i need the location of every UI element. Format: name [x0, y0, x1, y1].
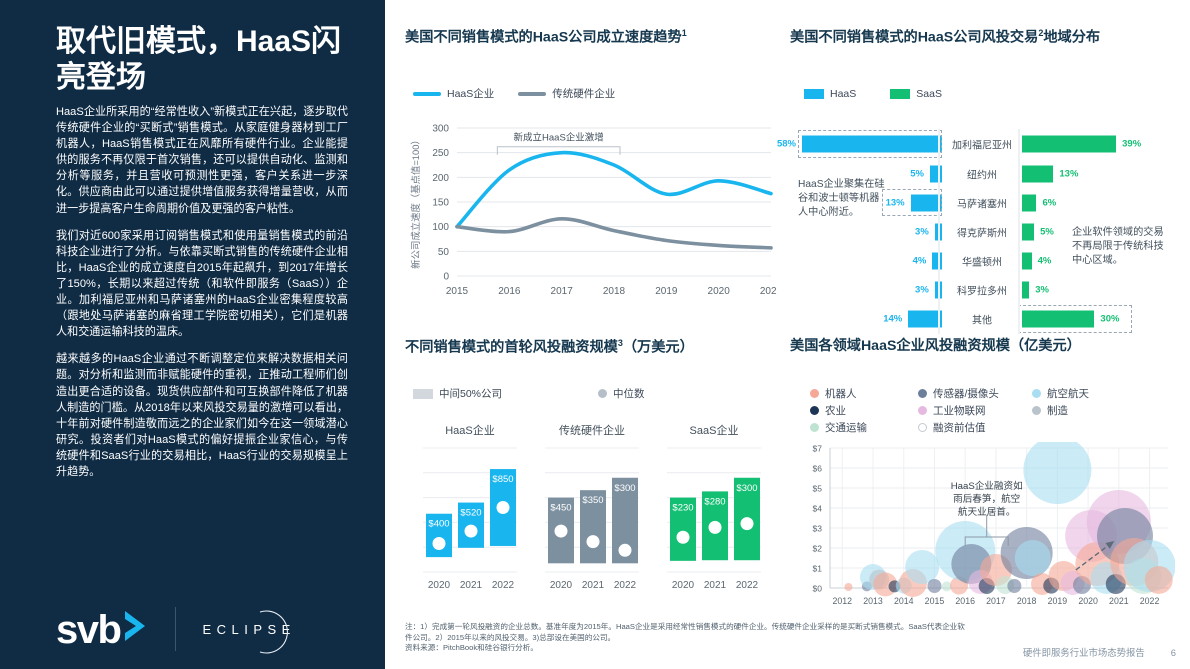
- svb-wordmark: svb: [56, 610, 120, 650]
- bar-value-haas: 3%: [915, 284, 929, 295]
- x-tick-label: 2012: [833, 596, 853, 606]
- legend-label: 航空航天: [1047, 386, 1089, 401]
- y-tick-label: $4: [813, 504, 823, 514]
- x-tick-label: 2018: [1017, 596, 1037, 606]
- chart-geo-distribution: 美国不同销售模式的HaaS公司风投交易2地域分布 HaaS SaaS 58%加利…: [790, 28, 1175, 318]
- slide-page: 取代旧模式，HaaS闪亮登场 HaaS企业所采用的“经常性收入”新模式正在兴起，…: [0, 0, 1190, 669]
- bar-value-saas: 4%: [1038, 255, 1052, 266]
- legend-label: 工业物联网: [933, 403, 986, 418]
- bubble-chart-canvas: $0$1$2$3$4$5$6$7201220132014201520162017…: [790, 442, 1175, 618]
- x-tick-label: 2013: [863, 596, 883, 606]
- legend-item-iqr: 中间50%公司: [413, 386, 598, 401]
- chart-sector-vc-bubbles: 美国各领域HaaS企业风投融资规模（亿美元） 机器人传感器/摄像头航空航天农业工…: [790, 338, 1175, 618]
- legend-dot-icon: [918, 389, 927, 398]
- bar-haas: [802, 136, 942, 153]
- note-saas-spread: 企业软件领域的交易不再局限于传统科技中心区域。: [1072, 226, 1172, 268]
- legend-label: 机器人: [825, 386, 857, 401]
- axis-separator: [1018, 129, 1020, 334]
- bar-saas: [1022, 194, 1036, 211]
- box-value-label: $300: [736, 483, 757, 494]
- box-year-label: 2022: [614, 580, 637, 591]
- bar-value-saas: 6%: [1042, 197, 1056, 208]
- legend-swatch-icon: [890, 89, 910, 99]
- box-group-title: SaaS企业: [690, 423, 739, 437]
- chart-annotation: 新成立HaaS企业激增: [514, 132, 604, 144]
- bubble: [1015, 540, 1051, 576]
- legend-item: 机器人: [810, 386, 857, 401]
- legend-item-median: 中位数: [598, 386, 645, 401]
- charts-area: 美国不同销售模式的HaaS公司成立速度趋势1 HaaS企业 传统硬件企业 050…: [385, 0, 1190, 669]
- legend-item-haas: HaaS: [804, 88, 856, 100]
- x-tick-label: 2019: [1048, 596, 1068, 606]
- intro-body-text: HaaS企业所采用的“经常性收入”新模式正在兴起，逐步取代传统硬件企业的“买断式…: [56, 104, 348, 480]
- chart-title-text: 美国不同销售模式的HaaS公司成立速度趋势: [405, 30, 682, 46]
- bubble: [1007, 579, 1021, 593]
- legend-dot-icon: [918, 406, 927, 415]
- bar-value-saas: 3%: [1035, 284, 1049, 295]
- bar-saas: [1022, 252, 1032, 269]
- bubble: [1023, 442, 1091, 504]
- footnotes: 注：1）完成第一轮风投融资的企业总数。基准年度为2015年。HaaS企业是采用经…: [405, 622, 965, 654]
- y-tick-label: $1: [813, 564, 823, 574]
- x-tick-label: 2016: [955, 596, 975, 606]
- bar-value-saas: 13%: [1059, 168, 1078, 179]
- note-haas-clusters: HaaS企业聚集在硅谷和波士顿等机器人中心附近。: [798, 178, 886, 220]
- box-median-dot: [555, 525, 568, 538]
- legend-item-legacy: 传统硬件企业: [518, 86, 615, 101]
- legend-label: 交通运输: [825, 420, 867, 435]
- eclipse-logo: ECLIPSE: [202, 622, 295, 637]
- bar-saas: [1022, 136, 1116, 153]
- y-tick-label: $2: [813, 544, 823, 554]
- box-group-title: 传统硬件企业: [559, 423, 625, 437]
- x-tick-label: 2015: [925, 596, 945, 606]
- box-median-dot: [465, 525, 478, 538]
- line-chart-canvas: 050100150200250300新公司成立速度（基点值=100）201520…: [405, 108, 777, 318]
- legend-dot-icon: [598, 389, 607, 398]
- bar-value-saas: 5%: [1040, 226, 1054, 237]
- line-series: [457, 219, 771, 248]
- y-tick-label: $3: [813, 524, 823, 534]
- x-tick-label: 2018: [603, 286, 626, 297]
- box-value-label: $230: [672, 503, 693, 514]
- y-tick-label: 0: [443, 272, 449, 283]
- legend-label: 中间50%公司: [439, 386, 502, 401]
- box-value-label: $300: [614, 483, 635, 494]
- left-intro-panel: 取代旧模式，HaaS闪亮登场 HaaS企业所采用的“经常性收入”新模式正在兴起，…: [0, 0, 385, 669]
- box-value-label: $850: [492, 474, 513, 485]
- legend-label: 农业: [825, 403, 846, 418]
- legend-label: 中位数: [613, 386, 645, 401]
- box-chart-canvas: HaaS企业$4002020$5202021$8502022传统硬件企业$450…: [405, 414, 777, 614]
- bubble: [844, 583, 852, 591]
- box-median-dot: [709, 521, 722, 534]
- box-group-title: HaaS企业: [445, 423, 495, 437]
- eclipse-arc-icon: [248, 609, 294, 660]
- y-tick-label: $7: [813, 444, 823, 454]
- chart-annotation: HaaS企业融资如: [951, 480, 1023, 492]
- legend-label: 融资前估值: [933, 420, 986, 435]
- box-year-label: 2022: [492, 580, 515, 591]
- box-value-label: $280: [704, 496, 725, 507]
- svb-logo: svb: [56, 609, 149, 650]
- x-tick-label: 2020: [1078, 596, 1098, 606]
- box-median-dot: [433, 537, 446, 550]
- box-value-label: $400: [428, 519, 449, 530]
- y-tick-label: 200: [432, 173, 449, 184]
- legend-label: HaaS企业: [447, 86, 494, 101]
- bubble: [1145, 566, 1173, 594]
- y-tick-label: $6: [813, 464, 823, 474]
- chart-title-text: 美国不同销售模式的HaaS公司风投交易: [790, 30, 1038, 46]
- legend-dot-icon: [810, 406, 819, 415]
- x-tick-label: 2016: [498, 286, 521, 297]
- x-tick-label: 2017: [986, 596, 1006, 606]
- bar-value-haas: 13%: [886, 197, 905, 208]
- y-tick-label: $5: [813, 484, 823, 494]
- box-year-label: 2021: [460, 580, 483, 591]
- bar-category-label: 纽约州: [942, 166, 1022, 181]
- chart-title: 不同销售模式的首轮风投融资规模3（万美元）: [405, 338, 777, 357]
- chart-legend: 中间50%公司 中位数: [413, 386, 753, 401]
- report-name: 硬件即服务行业市场态势报告: [1023, 645, 1145, 659]
- bar-value-haas: 5%: [910, 168, 924, 179]
- legend-item: 制造: [1032, 403, 1068, 418]
- bar-haas: [930, 165, 942, 182]
- axis-separator: [938, 129, 940, 334]
- legend-swatch-icon: [413, 389, 433, 399]
- legend-line-icon: [413, 92, 441, 96]
- bubble: [927, 579, 941, 593]
- legend-dot-icon: [810, 389, 819, 398]
- page-footer: 硬件即服务行业市场态势报告 6: [1023, 645, 1176, 659]
- x-tick-label: 2021: [1109, 596, 1129, 606]
- page-number: 6: [1171, 647, 1176, 658]
- legend-item-saas: SaaS: [890, 88, 942, 100]
- footnote-source: 资料来源：PitchBook和硅谷银行分析。: [405, 643, 965, 654]
- legend-item: 航空航天: [1032, 386, 1089, 401]
- bar-category-label: 加利福尼亚州: [942, 137, 1022, 152]
- box-year-label: 2020: [550, 580, 573, 591]
- bar-row: 3%科罗拉多州3%: [790, 275, 1175, 304]
- y-axis-label: 新公司成立速度（基点值=100）: [410, 135, 421, 269]
- x-tick-label: 2020: [708, 286, 731, 297]
- intro-paragraph: HaaS企业所采用的“经常性收入”新模式正在兴起，逐步取代传统硬件企业的“买断式…: [56, 104, 348, 217]
- bar-row: 58%加利福尼亚州39%: [790, 129, 1175, 159]
- y-tick-label: 150: [432, 198, 449, 209]
- chart-title: 美国各领域HaaS企业风投融资规模（亿美元）: [790, 338, 1175, 356]
- y-tick-label: 300: [432, 124, 449, 135]
- bar-value-haas: 58%: [777, 139, 796, 150]
- legend-ring-icon: [918, 423, 927, 432]
- legend-dot-icon: [1032, 406, 1041, 415]
- legend-label: 制造: [1047, 403, 1068, 418]
- chart-legend: HaaS企业 传统硬件企业: [413, 86, 615, 101]
- page-title: 取代旧模式，HaaS闪亮登场: [56, 24, 356, 96]
- x-tick-label: 2021: [760, 286, 777, 297]
- bar-value-haas: 4%: [913, 255, 927, 266]
- bar-value-saas: 39%: [1122, 139, 1141, 150]
- bar-saas: [1022, 311, 1094, 328]
- y-tick-label: 50: [438, 247, 450, 258]
- bubble: [905, 550, 939, 584]
- x-tick-label: 2014: [894, 596, 914, 606]
- bar-haas: [908, 311, 942, 328]
- chevron-right-icon: [123, 609, 149, 643]
- chart-title-tail: （万美元）: [623, 340, 694, 356]
- intro-paragraph: 我们对近600家采用订阅销售模式和使用量销售模式的前沿科技企业进行了分析。与依靠…: [56, 228, 348, 341]
- legend-dot-icon: [810, 423, 819, 432]
- box-median-dot: [497, 501, 510, 514]
- y-tick-label: 100: [432, 222, 449, 233]
- bar-category-label: 华盛顿州: [942, 253, 1022, 268]
- box-value-label: $350: [582, 495, 603, 506]
- chart-title: 美国不同销售模式的HaaS公司成立速度趋势1: [405, 28, 777, 47]
- legend-item: 农业: [810, 403, 846, 418]
- box-year-label: 2020: [672, 580, 695, 591]
- box-median-dot: [741, 517, 754, 530]
- x-tick-label: 2019: [655, 286, 678, 297]
- bar-saas: [1022, 223, 1034, 240]
- bar-row: 14%其他30%: [790, 304, 1175, 334]
- legend-item: 交通运输: [810, 420, 867, 435]
- chart-first-round-size: 不同销售模式的首轮风投融资规模3（万美元） 中间50%公司 中位数 HaaS企业…: [405, 338, 777, 618]
- legend-item: 传感器/摄像头: [918, 386, 999, 401]
- logo-divider: [175, 607, 176, 651]
- footnote-note: 注：1）完成第一轮风投融资的企业总数。基准年度为2015年。HaaS企业是采用经…: [405, 622, 965, 643]
- box-value-label: $450: [550, 503, 571, 514]
- legend-label: HaaS: [830, 88, 856, 100]
- chart-title-superscript: 1: [682, 28, 687, 38]
- legend-item: 融资前估值: [918, 420, 986, 435]
- box-median-dot: [677, 531, 690, 544]
- chart-title-text: 不同销售模式的首轮风投融资规模: [405, 340, 618, 356]
- chart-legend: HaaS SaaS: [804, 88, 942, 100]
- bar-value-haas: 3%: [915, 226, 929, 237]
- legend-item: 工业物联网: [918, 403, 986, 418]
- bar-category-label: 科罗拉多州: [942, 282, 1022, 297]
- bar-saas: [1022, 281, 1029, 298]
- line-series: [457, 153, 771, 227]
- bar-saas: [1022, 165, 1053, 182]
- chart-title: 美国不同销售模式的HaaS公司风投交易2地域分布: [790, 28, 1175, 47]
- legend-label: 传感器/摄像头: [933, 386, 999, 401]
- box-year-label: 2021: [704, 580, 727, 591]
- logo-row: svb ECLIPSE: [56, 607, 296, 651]
- x-tick-label: 2017: [551, 286, 574, 297]
- legend-label: 传统硬件企业: [552, 86, 615, 101]
- bar-value-saas: 30%: [1100, 314, 1119, 325]
- box-year-label: 2022: [736, 580, 759, 591]
- box-year-label: 2021: [582, 580, 605, 591]
- box-median-dot: [619, 544, 632, 557]
- legend-item-haas: HaaS企业: [413, 86, 494, 101]
- chart-title-tail: 地域分布: [1043, 30, 1100, 46]
- legend-dot-icon: [1032, 389, 1041, 398]
- bar-category-label: 马萨诸塞州: [942, 195, 1022, 210]
- bar-category-label: 得克萨斯州: [942, 224, 1022, 239]
- x-tick-label: 2015: [446, 286, 469, 297]
- y-tick-label: $0: [813, 584, 823, 594]
- intro-paragraph: 越来越多的HaaS企业通过不断调整定位来解决数据相关问题。对分析和监测而非赋能硬…: [56, 351, 348, 480]
- bar-category-label: 其他: [942, 312, 1022, 327]
- legend-swatch-icon: [804, 89, 824, 99]
- box-median-dot: [587, 535, 600, 548]
- x-tick-label: 2022: [1140, 596, 1160, 606]
- box-value-label: $520: [460, 508, 481, 519]
- y-tick-label: 250: [432, 148, 449, 159]
- bar-value-haas: 14%: [883, 314, 902, 325]
- legend-line-icon: [518, 92, 546, 96]
- legend-label: SaaS: [916, 88, 942, 100]
- box-year-label: 2020: [428, 580, 451, 591]
- chart-annotation: 雨后春笋，航空: [953, 493, 1020, 505]
- chart-annotation: 航天业居首。: [958, 506, 1016, 518]
- chart-founding-trend: 美国不同销售模式的HaaS公司成立速度趋势1 HaaS企业 传统硬件企业 050…: [405, 28, 777, 318]
